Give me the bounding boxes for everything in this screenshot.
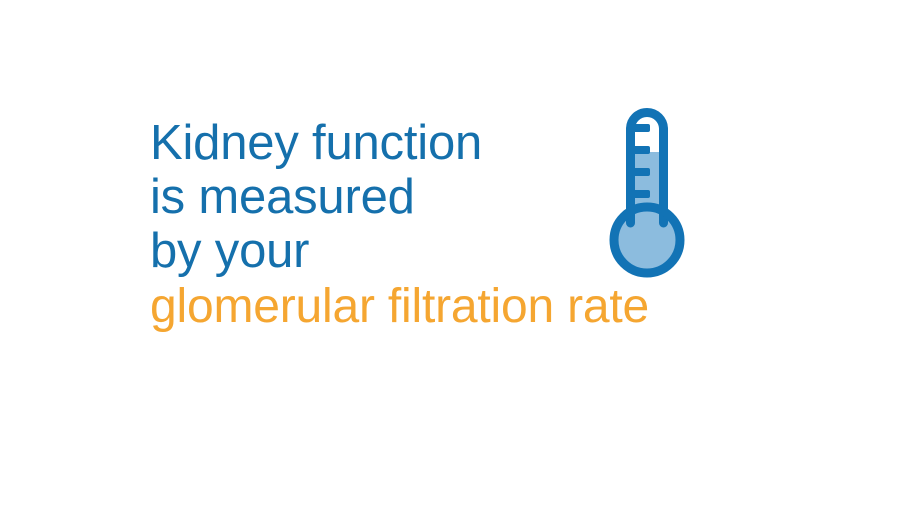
thermometer-graphic bbox=[606, 92, 698, 284]
thermometer-tick-2 bbox=[630, 146, 650, 154]
thermometer-tick-4 bbox=[630, 190, 650, 198]
headline-line-4-emphasis: glomerular filtration rate bbox=[150, 278, 790, 335]
slide-canvas: Kidney function is measured by your glom… bbox=[0, 0, 908, 509]
thermometer-tick-3 bbox=[630, 168, 650, 176]
thermometer-icon bbox=[606, 92, 698, 284]
thermometer-tick-1 bbox=[630, 124, 650, 132]
